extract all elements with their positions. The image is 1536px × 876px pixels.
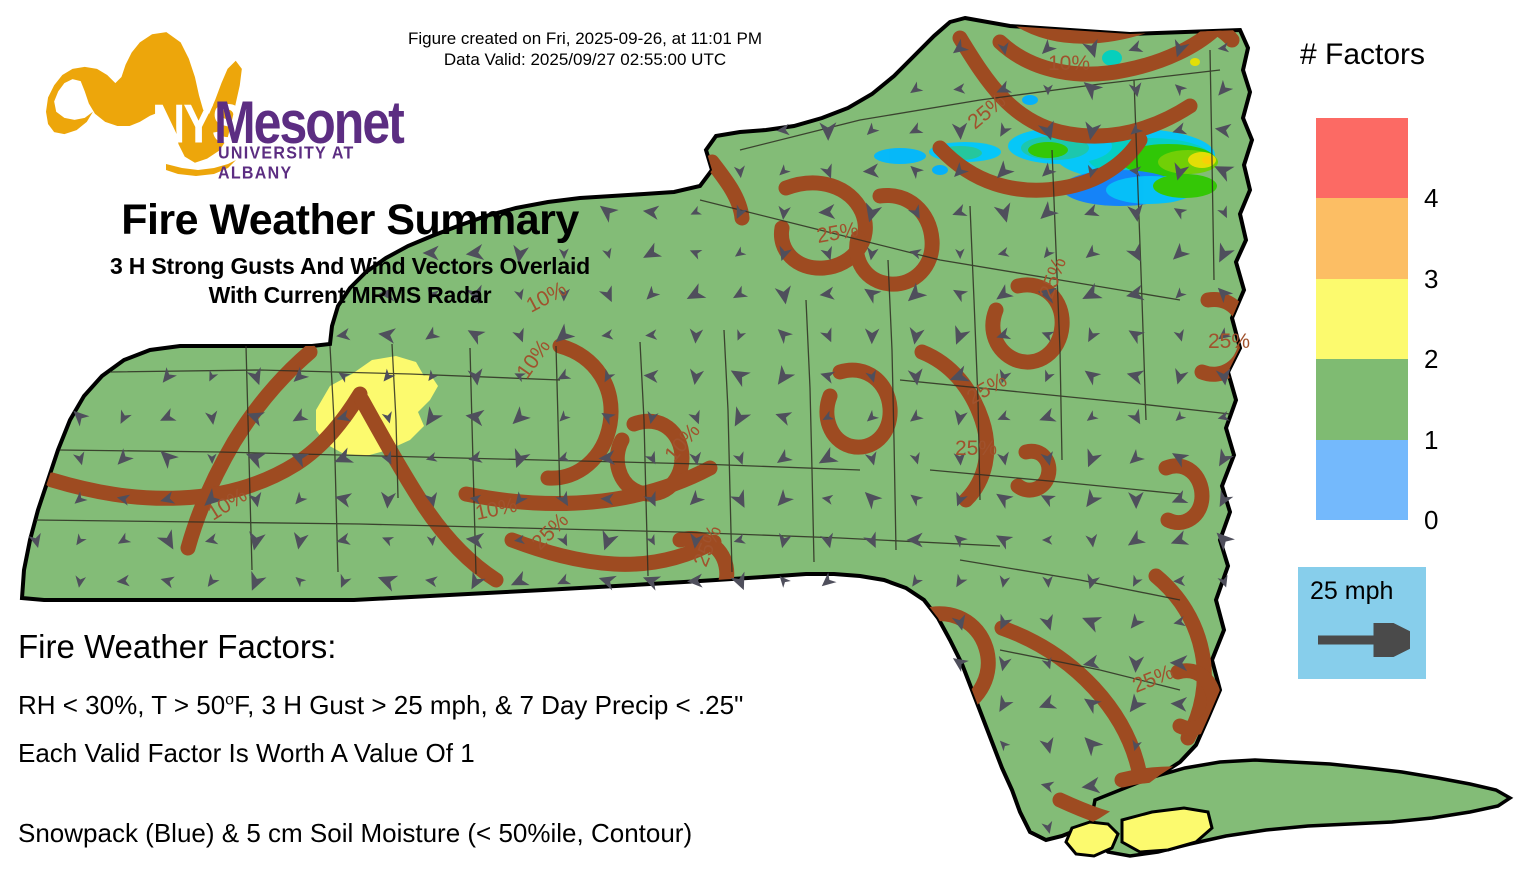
- wind-arrow: [1078, 731, 1103, 756]
- wind-arrow: [859, 486, 882, 509]
- wind-arrow: [427, 535, 438, 546]
- wind-arrow: [424, 492, 440, 509]
- wind-arrow: [992, 488, 1014, 509]
- wind-arrow: [1040, 246, 1055, 261]
- wind-arrow: [818, 204, 835, 220]
- wind-arrow: [598, 408, 615, 425]
- wind-arrow: [69, 406, 90, 427]
- wind-arrow: [991, 160, 1014, 184]
- wind-arrow: [995, 410, 1010, 425]
- wind-arrow: [1080, 777, 1100, 796]
- wind-arrow: [688, 410, 704, 427]
- wind-arrow: [949, 162, 969, 182]
- wind-arrow: [1080, 489, 1102, 512]
- wind-arrow: [733, 451, 748, 467]
- wind-arrow: [1084, 410, 1099, 425]
- wind-arrow: [289, 408, 308, 427]
- wind-arrow: [1172, 411, 1186, 425]
- wind-arrow: [1170, 162, 1189, 182]
- wind-arrow: [336, 574, 352, 591]
- wind-arrow: [155, 445, 179, 469]
- wind-arrow: [996, 369, 1011, 385]
- wind-arrow: [908, 204, 925, 221]
- wind-arrow: [996, 737, 1010, 751]
- wind-arrow: [116, 575, 130, 588]
- wind-arrow: [1078, 283, 1102, 307]
- wind-arrow: [910, 452, 923, 466]
- wind-arrow: [732, 246, 746, 260]
- yellow-factor-region: [316, 356, 438, 456]
- wind-arrow: [244, 407, 265, 427]
- wind-key-label: 25 mph: [1310, 577, 1393, 606]
- wind-arrow: [950, 204, 968, 221]
- wind-arrow: [908, 574, 923, 589]
- wind-arrow: [557, 533, 572, 548]
- colorbar-tick-0: 0: [1424, 507, 1438, 533]
- wind-arrow: [821, 493, 834, 505]
- wind-arrow: [732, 534, 746, 547]
- wind-arrow: [203, 574, 219, 591]
- wind-arrow: [1038, 162, 1057, 181]
- wind-arrow: [465, 572, 486, 593]
- colorbar-tick-3: 3: [1424, 266, 1438, 292]
- wind-arrow: [865, 328, 880, 344]
- logo-university-text: UNIVERSITY AT ALBANY: [218, 144, 378, 184]
- wind-arrow: [819, 122, 836, 141]
- wind-arrow: [1123, 693, 1147, 717]
- wind-arrow: [157, 408, 176, 427]
- wind-arrow: [645, 451, 661, 467]
- wind-arrow: [994, 81, 1013, 99]
- wind-arrow: [291, 532, 309, 551]
- wind-arrow: [1213, 80, 1233, 100]
- wind-arrow: [598, 450, 615, 466]
- wind-arrow: [1083, 573, 1100, 591]
- wind-arrow: [643, 491, 661, 510]
- wind-arrow: [772, 489, 794, 511]
- wind-arrow: [908, 368, 925, 386]
- wind-arrow: [955, 249, 965, 260]
- wind-arrow: [1170, 122, 1187, 138]
- wind-arrow: [289, 367, 309, 387]
- wind-arrow: [820, 411, 834, 425]
- wind-arrow: [734, 165, 746, 178]
- wind-arrow: [335, 328, 350, 342]
- wind-arrow: [292, 574, 306, 588]
- contour-label: 25%: [963, 89, 1010, 134]
- wind-arrow: [1085, 165, 1099, 180]
- wind-arrow: [204, 533, 219, 547]
- wind-arrow: [205, 411, 219, 426]
- long-island-polygon: [1066, 760, 1510, 856]
- contour-label: 25%: [1208, 330, 1250, 353]
- wind-arrow: [1042, 657, 1055, 671]
- wind-arrow: [820, 327, 837, 344]
- wind-arrow: [1128, 656, 1144, 674]
- wind-arrow: [994, 327, 1011, 343]
- wind-arrow: [1173, 575, 1185, 586]
- wind-arrow: [1125, 324, 1145, 344]
- wind-arrow: [382, 411, 395, 425]
- wind-arrow: [115, 410, 132, 427]
- wind-arrow: [1125, 366, 1144, 384]
- page-subtitle: 3 H Strong Gusts And Wind Vectors Overla…: [0, 252, 700, 310]
- wind-arrow: [464, 324, 486, 345]
- wind-arrow: [1212, 243, 1235, 267]
- contour-label: 25%: [955, 437, 997, 460]
- wind-arrow: [773, 407, 792, 425]
- wind-arrow: [469, 493, 481, 504]
- factor-value-line: Each Valid Factor Is Worth A Value Of 1: [18, 738, 475, 769]
- wind-arrow: [158, 491, 175, 507]
- wind-arrow: [157, 529, 181, 553]
- wind-arrow: [1082, 204, 1100, 221]
- wind-arrow: [512, 328, 528, 345]
- wind-arrow: [727, 406, 751, 430]
- contour-label: 10%: [512, 335, 555, 383]
- wind-arrow: [775, 245, 792, 263]
- wind-arrow: [291, 492, 307, 508]
- wind-arrow: [422, 326, 441, 344]
- contour-label: 10%: [660, 419, 705, 466]
- subtitle-line-2: With Current MRMS Radar: [0, 281, 700, 310]
- wind-arrow: [996, 656, 1012, 673]
- wind-arrow: [331, 448, 354, 470]
- wind-arrow: [1171, 203, 1188, 219]
- wind-arrow: [1213, 448, 1234, 470]
- wind-arrow: [865, 370, 879, 384]
- wind-arrow: [1172, 616, 1185, 629]
- contour-label: 25%: [689, 522, 726, 570]
- wind-arrow: [643, 369, 658, 383]
- wind-arrow: [116, 492, 131, 506]
- wind-arrow: [73, 451, 88, 466]
- fire-weather-factors-heading: Fire Weather Factors:: [18, 628, 336, 666]
- subtitle-line-1: 3 H Strong Gusts And Wind Vectors Overla…: [0, 252, 700, 281]
- wind-arrow: [1216, 411, 1229, 424]
- wind-arrow: [950, 531, 967, 548]
- figure-created-text: Figure created on Fri, 2025-09-26, at 11…: [305, 28, 865, 49]
- wind-arrow: [600, 493, 614, 506]
- figure-timestamps: Figure created on Fri, 2025-09-26, at 11…: [305, 28, 865, 70]
- wind-arrow: [555, 574, 571, 590]
- wind-arrow: [645, 411, 659, 425]
- wind-arrow: [508, 571, 530, 592]
- wind-arrow: [863, 531, 882, 550]
- wind-arrow: [377, 326, 396, 344]
- wind-arrow: [1168, 530, 1189, 550]
- wind-arrow: [335, 410, 351, 426]
- factors-colorbar: [1316, 118, 1408, 520]
- wind-arrow: [508, 448, 530, 471]
- wind-arrow: [244, 571, 266, 594]
- wind-arrow: [596, 571, 616, 591]
- wind-arrow: [596, 530, 619, 553]
- wind-arrow: [906, 122, 923, 139]
- wind-arrow: [333, 490, 352, 508]
- wind-arrow: [243, 446, 267, 469]
- wind-arrow: [771, 365, 795, 390]
- wind-arrow: [1217, 42, 1229, 53]
- wind-arrow: [71, 491, 88, 508]
- wind-arrow: [775, 285, 794, 305]
- wind-arrow: [689, 452, 703, 467]
- wind-arrow: [1128, 575, 1142, 590]
- wind-arrow: [1041, 451, 1056, 467]
- wind-arrow: [205, 370, 218, 384]
- wind-arrow: [1079, 610, 1102, 633]
- wind-arrow: [773, 449, 793, 469]
- wind-arrow: [907, 327, 925, 346]
- wind-arrow: [207, 454, 217, 464]
- wind-arrow: [992, 284, 1014, 305]
- wind-arrow: [820, 533, 836, 550]
- wind-arrow: [953, 83, 966, 95]
- wind-arrow: [336, 368, 351, 383]
- wind-arrow: [950, 284, 968, 302]
- wind-arrow: [1171, 80, 1187, 96]
- wind-arrow: [425, 452, 438, 464]
- wind-arrow: [906, 161, 924, 179]
- wind-arrow: [1170, 696, 1187, 712]
- wind-arrow: [865, 247, 879, 261]
- wind-arrow: [730, 572, 751, 594]
- wind-arrow: [419, 406, 443, 430]
- wind-arrow: [1040, 369, 1054, 384]
- colorbar-band-1: [1316, 359, 1408, 439]
- criteria-part-b: F, 3 H Gust > 25 mph, & 7 Day Precip < .…: [234, 690, 743, 720]
- wind-arrow: [512, 369, 525, 382]
- wind-arrow: [1171, 368, 1189, 387]
- wind-arrow: [688, 369, 705, 387]
- wind-arrow: [997, 452, 1011, 467]
- wind-arrow: [907, 82, 923, 98]
- wind-arrow: [815, 447, 839, 471]
- arrow-right-icon: [1316, 623, 1410, 657]
- wind-arrow: [555, 368, 572, 384]
- wind-arrow: [1080, 365, 1101, 386]
- wind-arrow: [1169, 655, 1187, 672]
- wind-arrow: [995, 122, 1012, 139]
- contour-label: 25%: [527, 509, 573, 555]
- contour-label: 25%: [1129, 661, 1177, 698]
- contour-label: 10%: [203, 483, 251, 525]
- colorbar-tick-2: 2: [1424, 346, 1438, 372]
- wind-arrow: [820, 246, 836, 262]
- wind-arrow: [819, 287, 835, 302]
- wind-arrow: [556, 491, 574, 510]
- wind-arrow: [601, 329, 614, 341]
- wind-arrow: [1128, 492, 1144, 509]
- colorbar-band-2: [1316, 279, 1408, 359]
- wind-arrow: [1042, 535, 1052, 545]
- colorbar-band-3: [1316, 198, 1408, 278]
- wind-arrow: [947, 365, 970, 387]
- contour-label: 25%: [963, 368, 1011, 409]
- wind-arrow: [1169, 490, 1188, 509]
- wind-arrow: [1039, 614, 1057, 633]
- wind-arrow: [820, 163, 837, 180]
- wind-arrow: [777, 206, 791, 221]
- wind-arrow: [1211, 527, 1235, 551]
- wind-arrow: [1085, 534, 1099, 548]
- wind-arrow: [112, 448, 134, 470]
- wind-arrow: [689, 328, 703, 344]
- wind-arrow: [951, 574, 967, 590]
- wind-arrow: [1043, 85, 1053, 96]
- wind-arrow: [288, 447, 309, 468]
- wind-arrow: [730, 489, 751, 511]
- wind-arrow: [1172, 287, 1187, 302]
- snowpack-soil-line: Snowpack (Blue) & 5 cm Soil Moisture (< …: [18, 818, 692, 849]
- wind-arrow: [1035, 201, 1059, 225]
- wind-arrow: [464, 407, 484, 426]
- factors-criteria-line: RH < 30%, T > 50oF, 3 H Gust > 25 mph, &…: [18, 690, 743, 721]
- wind-arrow: [818, 368, 835, 384]
- wind-arrow: [954, 452, 967, 466]
- wind-arrow: [994, 614, 1012, 633]
- wind-arrow: [776, 164, 791, 179]
- wind-arrow: [556, 410, 571, 425]
- wind-arrow: [1127, 409, 1146, 428]
- wind-arrow: [994, 202, 1015, 224]
- wind-arrow: [818, 572, 837, 591]
- colorbar-band-0: [1316, 440, 1408, 520]
- wind-arrow: [1083, 327, 1101, 345]
- wind-arrow: [997, 575, 1010, 588]
- wind-arrow: [1080, 692, 1102, 714]
- wind-arrow: [949, 653, 969, 672]
- wind-arrow: [952, 614, 969, 632]
- wind-arrow: [1214, 121, 1232, 138]
- wind-arrow: [1124, 530, 1146, 552]
- wind-arrow: [861, 202, 882, 224]
- wind-arrow: [993, 695, 1013, 716]
- wind-arrow: [556, 452, 570, 466]
- wind-arrow: [907, 490, 923, 506]
- wind-arrow: [380, 533, 394, 547]
- wind-arrow: [952, 123, 968, 141]
- wind-arrow: [906, 409, 923, 426]
- wind-arrow: [115, 533, 131, 549]
- wind-arrow: [1038, 490, 1056, 507]
- wind-arrow: [645, 329, 658, 341]
- wind-arrow: [375, 569, 398, 592]
- wind-arrow: [773, 324, 793, 344]
- wind-arrow: [731, 204, 748, 221]
- wind-arrow: [507, 406, 531, 430]
- wind-arrow: [1036, 694, 1057, 714]
- wind-arrow: [688, 533, 704, 550]
- wind-arrow: [1082, 245, 1101, 263]
- wind-arrow: [72, 533, 87, 548]
- wind-arrow: [776, 124, 790, 137]
- wind-arrow: [865, 451, 880, 467]
- wind-arrow: [1174, 329, 1187, 343]
- wind-arrow: [862, 163, 879, 179]
- wind-arrow: [380, 492, 396, 509]
- wind-arrow: [646, 534, 659, 548]
- wind-arrow: [1126, 243, 1147, 265]
- wind-arrow: [949, 39, 969, 59]
- wind-arrow: [1038, 121, 1059, 143]
- wind-arrow: [600, 369, 616, 385]
- wind-arrow: [1215, 327, 1232, 343]
- wind-arrow: [424, 574, 438, 587]
- wind-arrow: [1125, 449, 1145, 469]
- wind-arrow: [1217, 205, 1232, 220]
- wind-arrow: [1168, 243, 1190, 265]
- wind-arrow: [992, 529, 1013, 550]
- wind-arrow: [465, 531, 484, 549]
- wind-arrow: [1127, 122, 1144, 138]
- wind-arrow: [379, 369, 395, 385]
- contour-label: 25%: [1035, 254, 1071, 301]
- wind-arrow: [1039, 779, 1054, 793]
- wind-arrow: [687, 574, 703, 589]
- wind-arrow: [74, 575, 86, 588]
- wind-arrow: [908, 246, 922, 259]
- colorbar-tick-4: 4: [1424, 185, 1438, 211]
- wind-arrow: [1168, 447, 1189, 468]
- degree-superscript: o: [225, 691, 234, 708]
- wind-arrow: [907, 533, 923, 548]
- wind-arrow: [380, 451, 396, 468]
- page-title: Fire Weather Summary: [0, 196, 700, 245]
- wind-arrow: [335, 533, 351, 548]
- colorbar-tick-1: 1: [1424, 427, 1438, 453]
- wind-arrow: [199, 488, 223, 512]
- wind-arrow: [1170, 39, 1190, 60]
- wind-arrow: [513, 535, 525, 546]
- wind-arrow: [863, 122, 880, 139]
- wind-arrow: [733, 329, 746, 342]
- legend-title: # Factors: [1300, 38, 1425, 72]
- criteria-part-a: RH < 30%, T > 50: [18, 690, 225, 720]
- wind-arrow: [159, 573, 175, 588]
- wind-arrow: [726, 363, 750, 387]
- wind-arrow: [997, 247, 1010, 259]
- wind-arrow: [1127, 204, 1145, 223]
- wind-arrow: [28, 533, 44, 550]
- wind-arrow: [1036, 283, 1057, 303]
- wind-arrow: [1126, 613, 1145, 633]
- wind-arrow: [1040, 328, 1055, 342]
- wind-arrow: [730, 286, 748, 304]
- wind-arrow: [1126, 40, 1143, 56]
- wind-vector-key: 25 mph: [1298, 567, 1426, 679]
- wind-arrow: [1037, 39, 1057, 59]
- wind-arrow: [998, 42, 1011, 56]
- wind-arrow: [1041, 821, 1055, 835]
- wind-arrow: [1042, 576, 1054, 588]
- wind-arrow: [776, 573, 791, 588]
- colorbar-band-4: [1316, 118, 1408, 198]
- wind-arrow: [1129, 82, 1144, 98]
- wind-arrow: [1078, 76, 1103, 101]
- wind-arrow: [157, 367, 176, 387]
- wind-arrow: [511, 491, 528, 508]
- contour-label: 10%: [473, 494, 519, 525]
- wind-arrow: [424, 370, 438, 384]
- wind-arrow: [1124, 285, 1144, 304]
- wind-arrow: [951, 492, 967, 509]
- radar-echo-layer: [874, 50, 1218, 206]
- wind-arrow: [1130, 739, 1142, 752]
- wind-arrow: [685, 490, 705, 510]
- wind-arrow: [1082, 121, 1101, 141]
- wind-arrow: [467, 451, 483, 466]
